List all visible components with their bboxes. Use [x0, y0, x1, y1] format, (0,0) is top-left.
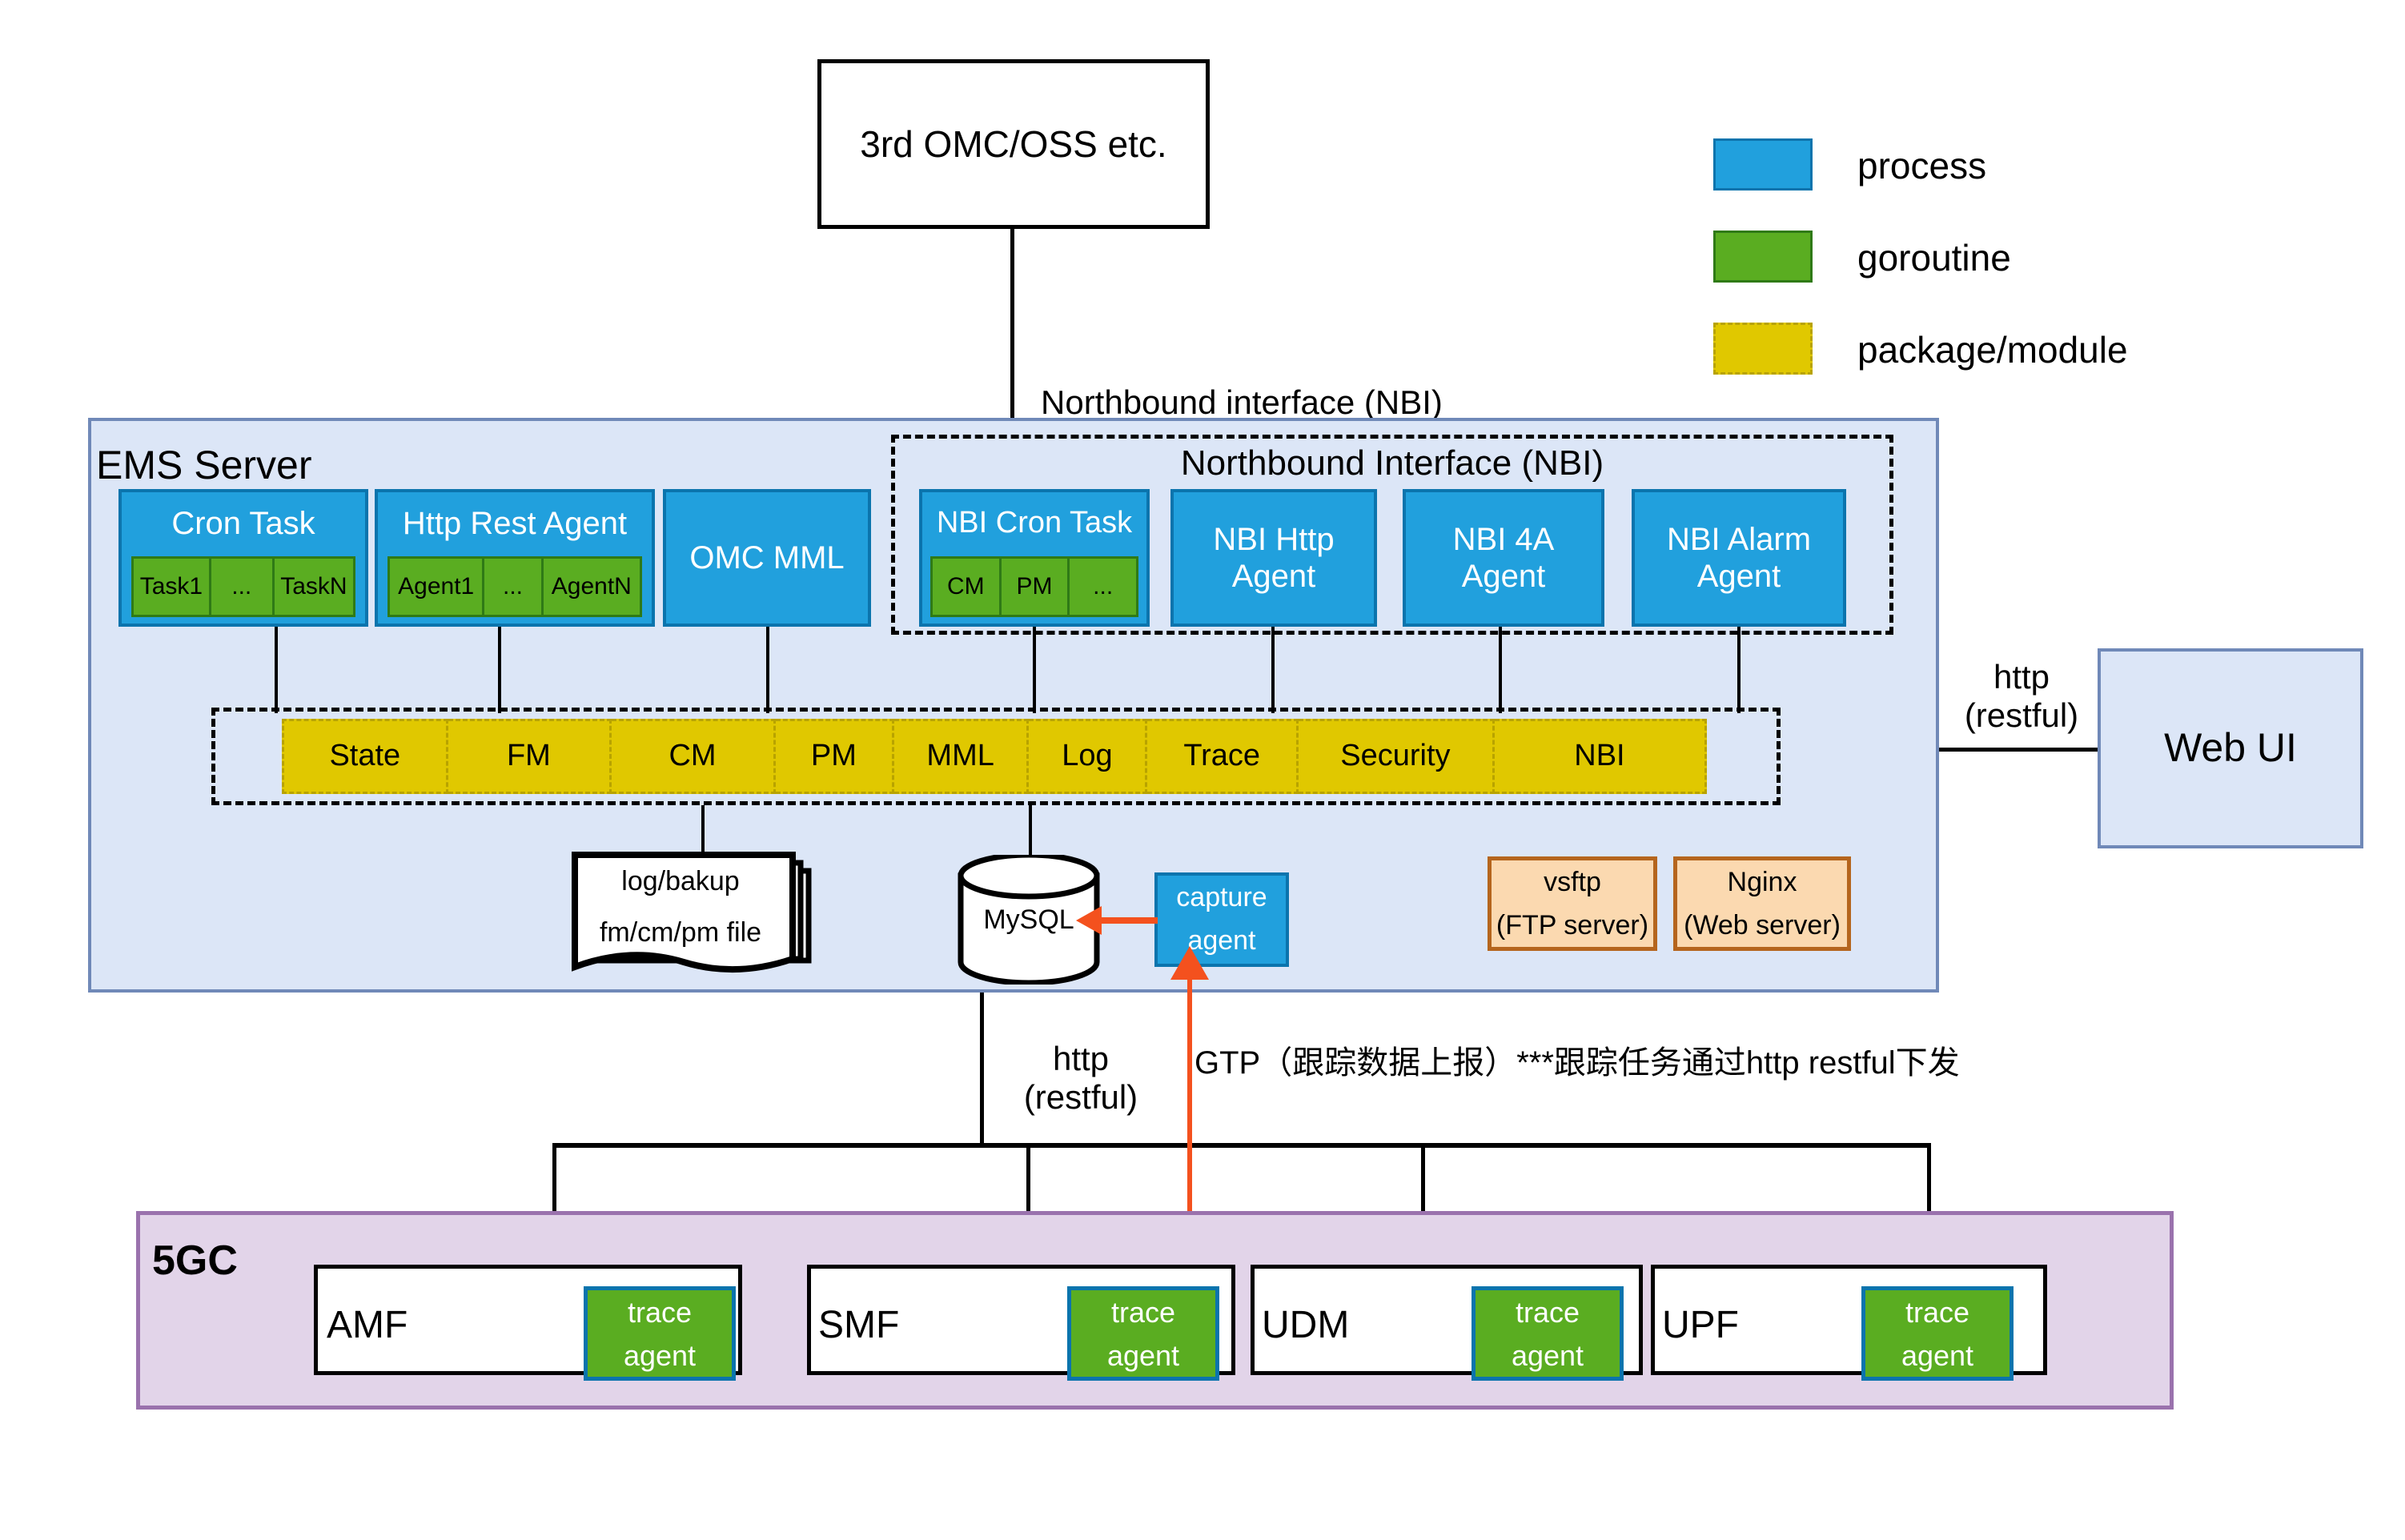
legend-swatch-goroutine	[1713, 231, 1813, 283]
trace-agent-upf-line1: trace	[1865, 1290, 2010, 1335]
web-ui-link-label-line1: http	[1993, 658, 2050, 696]
process-omc-mml[interactable]: OMC MML	[663, 489, 871, 627]
trace-agent-udm-line2: agent	[1476, 1335, 1620, 1377]
trace-agent-udm-line1: trace	[1476, 1290, 1620, 1335]
southbound-http-label-line1: http	[1053, 1040, 1109, 1078]
connector-nbi-4a-agent-to-modules	[1499, 627, 1502, 713]
southbound-http-label: http (restful)	[1001, 1031, 1161, 1125]
web-ui-label: Web UI	[2164, 725, 2297, 772]
process-cron-task[interactable]: Cron Task Task1 ... TaskN	[118, 489, 368, 627]
goroutine-taskn[interactable]: TaskN	[275, 556, 355, 617]
web-ui-box[interactable]: Web UI	[2098, 648, 2363, 848]
process-nbi-cron-task[interactable]: NBI Cron Task CM PM ...	[919, 489, 1150, 627]
connector-nbi-http-agent-to-modules	[1271, 627, 1275, 713]
third-party-omc-oss-label: 3rd OMC/OSS etc.	[860, 123, 1166, 166]
module-trace[interactable]: Trace	[1147, 719, 1298, 794]
goroutine-agent-ellipsis[interactable]: ...	[484, 556, 543, 617]
nf-label-smf: SMF	[818, 1303, 899, 1347]
nf-label-amf: AMF	[327, 1303, 408, 1347]
nf-label-upf: UPF	[1662, 1303, 1739, 1347]
trace-agent-smf[interactable]: trace agent	[1067, 1286, 1219, 1381]
third-party-omc-oss-box: 3rd OMC/OSS etc.	[817, 59, 1210, 229]
goroutine-task1[interactable]: Task1	[131, 556, 211, 617]
web-ui-link-label-line2: (restful)	[1965, 696, 2078, 735]
connector-cron-task-to-modules	[275, 627, 278, 713]
goroutine-nbi-ellipsis[interactable]: ...	[1070, 556, 1138, 617]
trace-agent-upf-line2: agent	[1865, 1335, 2010, 1377]
trace-agent-smf-line1: trace	[1071, 1290, 1215, 1335]
process-http-rest-agent[interactable]: Http Rest Agent Agent1 ... AgentN	[375, 489, 655, 627]
server-box-vsftp[interactable]: vsftp (FTP server)	[1488, 856, 1657, 951]
arrow-capture-agent-to-database	[1073, 896, 1161, 944]
connector-nbi-alarm-agent-to-modules	[1737, 627, 1741, 713]
trace-agent-smf-line2: agent	[1071, 1335, 1215, 1377]
goroutine-agentn[interactable]: AgentN	[544, 556, 642, 617]
process-nbi-alarm-agent-label: NBI Alarm Agent	[1667, 521, 1811, 595]
trace-agent-udm[interactable]: trace agent	[1472, 1286, 1624, 1381]
file-store-label-line1: log/bakup	[572, 866, 789, 898]
goroutine-nbi-cm[interactable]: CM	[930, 556, 1002, 617]
gc-title: 5GC	[152, 1237, 238, 1285]
process-nbi-http-agent[interactable]: NBI Http Agent	[1170, 489, 1377, 627]
capture-agent-label-line1: capture	[1158, 876, 1286, 920]
diagram-canvas: 3rd OMC/OSS etc. Northbound interface (N…	[0, 0, 2405, 1540]
process-nbi-alarm-agent[interactable]: NBI Alarm Agent	[1632, 489, 1846, 627]
vsftp-label-line2: (FTP server)	[1492, 905, 1653, 947]
trace-agent-amf[interactable]: trace agent	[584, 1286, 736, 1381]
legend-swatch-process	[1713, 138, 1813, 190]
process-nbi-4a-agent[interactable]: NBI 4A Agent	[1403, 489, 1604, 627]
connector-modules-to-file-store	[701, 805, 705, 855]
goroutine-agent1[interactable]: Agent1	[387, 556, 484, 617]
connector-ems-to-southbound-bus	[980, 993, 984, 1145]
module-nbi[interactable]: NBI	[1495, 719, 1707, 794]
connector-http-rest-agent-to-modules	[498, 627, 501, 713]
nginx-label-line1: Nginx	[1677, 860, 1847, 905]
connector-omc-to-ems	[1010, 229, 1014, 419]
process-nbi-cron-task-label: NBI Cron Task	[922, 492, 1146, 555]
connector-modules-to-database	[1029, 805, 1032, 855]
process-nbi-4a-agent-label: NBI 4A Agent	[1453, 521, 1555, 595]
vsftp-label-line1: vsftp	[1492, 860, 1653, 905]
process-http-rest-agent-label: Http Rest Agent	[378, 492, 652, 555]
southbound-bus	[552, 1143, 1931, 1148]
connector-nbi-cron-task-to-modules	[1033, 627, 1036, 713]
arrow-trace-to-capture-agent	[1162, 944, 1219, 993]
module-cm[interactable]: CM	[612, 719, 776, 794]
process-nbi-http-agent-label: NBI Http Agent	[1213, 521, 1334, 595]
file-store-label-line2: fm/cm/pm file	[568, 917, 793, 949]
connector-ems-to-web-ui	[1939, 748, 2099, 752]
web-ui-link-label: http (restful)	[1945, 648, 2098, 744]
gtp-note-label: GTP（跟踪数据上报）***跟踪任务通过http restful下发	[1194, 1037, 1960, 1083]
legend-label-goroutine: goroutine	[1857, 236, 2011, 279]
legend-swatch-package	[1713, 323, 1813, 375]
orange-connector-capture-agent-down	[1187, 967, 1192, 1217]
nbi-group-title: Northbound Interface (NBI)	[891, 442, 1893, 485]
process-omc-mml-label: OMC MML	[689, 539, 844, 576]
module-log[interactable]: Log	[1029, 719, 1147, 794]
module-state[interactable]: State	[282, 719, 448, 794]
module-pm[interactable]: PM	[776, 719, 894, 794]
module-fm[interactable]: FM	[448, 719, 612, 794]
nf-label-udm: UDM	[1262, 1303, 1349, 1347]
goroutine-nbi-pm[interactable]: PM	[1002, 556, 1070, 617]
server-box-nginx[interactable]: Nginx (Web server)	[1673, 856, 1851, 951]
trace-agent-amf-line2: agent	[588, 1335, 732, 1377]
trace-agent-upf[interactable]: trace agent	[1861, 1286, 2014, 1381]
modules-bar: State FM CM PM MML Log Trace Security NB…	[282, 719, 1707, 794]
goroutine-task-ellipsis[interactable]: ...	[211, 556, 275, 617]
trace-agent-amf-line1: trace	[588, 1290, 732, 1335]
nginx-label-line2: (Web server)	[1677, 905, 1847, 947]
ems-server-title: EMS Server	[96, 442, 312, 488]
module-security[interactable]: Security	[1299, 719, 1495, 794]
process-cron-task-label: Cron Task	[122, 492, 365, 555]
connector-omc-mml-to-modules	[766, 627, 769, 713]
legend-label-package: package/module	[1857, 328, 2128, 371]
legend-label-process: process	[1857, 144, 1986, 187]
southbound-http-label-line2: (restful)	[1024, 1078, 1138, 1117]
module-mml[interactable]: MML	[894, 719, 1029, 794]
